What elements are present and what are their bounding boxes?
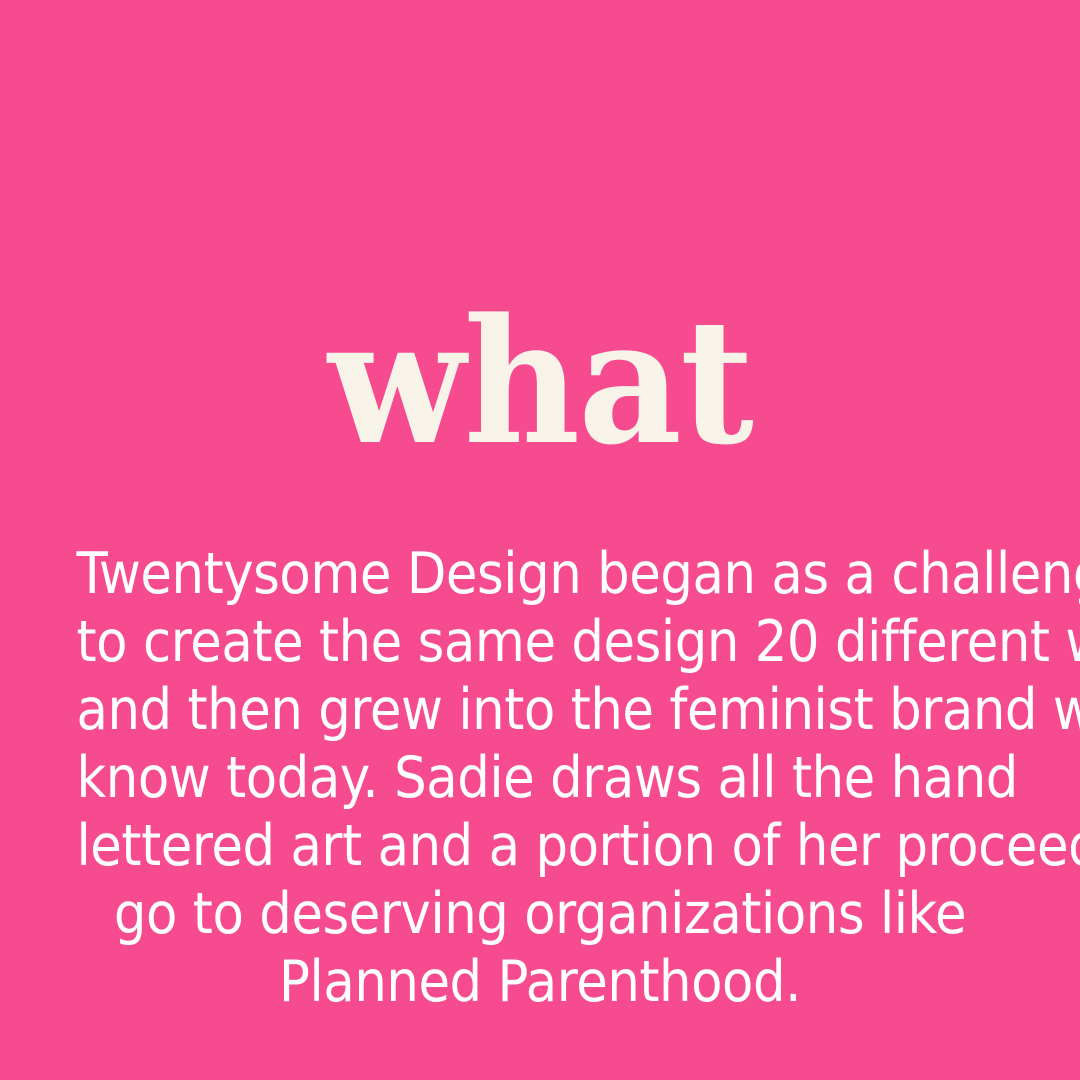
body-line: Planned Parenthood.	[77, 948, 1004, 1016]
body-line: know today. Sadie draws all the hand	[77, 744, 1004, 812]
page-title: what	[38, 296, 1042, 468]
body-line: and then grew into the feminist brand we	[77, 676, 1004, 744]
slide-canvas: what Twentysome Design began as a challe…	[0, 0, 1080, 1080]
body-line: Twentysome Design began as a challenge	[77, 540, 1004, 608]
body-line: go to deserving organizations like	[77, 880, 1004, 948]
body-line: to create the same design 20 different w…	[77, 608, 1004, 676]
body-paragraph: Twentysome Design began as a challenge t…	[77, 540, 1004, 1016]
body-line: lettered art and a portion of her procee…	[77, 812, 1004, 880]
